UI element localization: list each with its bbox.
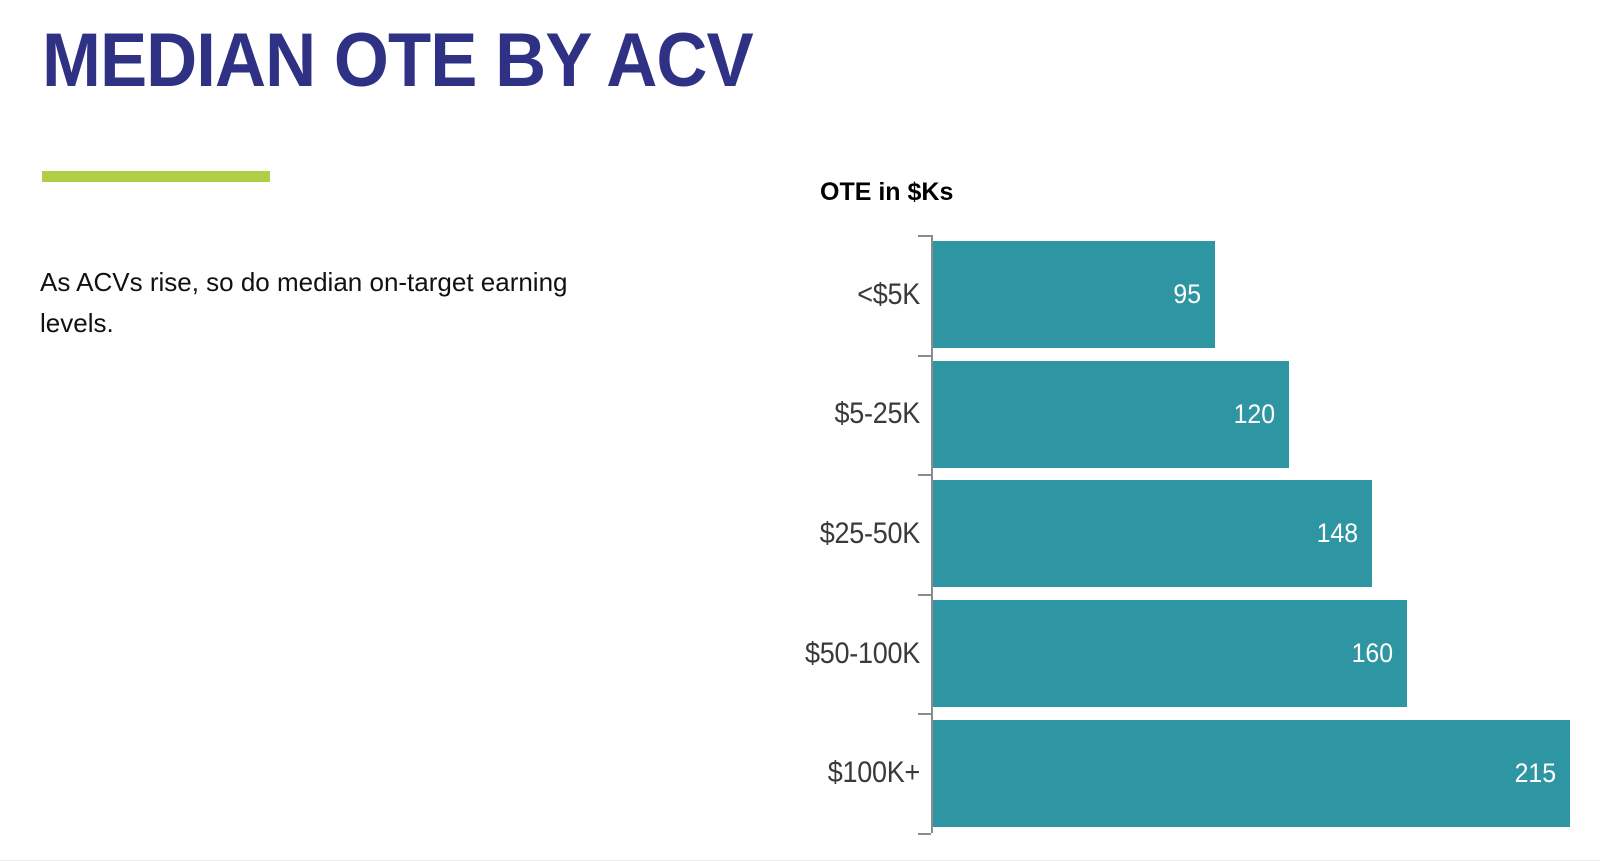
ote-bar-chart: OTE in $Ks <$5K95$5-25K120$25-50K148$50-… — [760, 160, 1600, 860]
bar[interactable]: 215 — [933, 720, 1570, 827]
bar-row: $5-25K120 — [760, 355, 1600, 475]
bar-row: $50-100K160 — [760, 594, 1600, 714]
bar-row: <$5K95 — [760, 235, 1600, 355]
bar-track: 120 — [933, 355, 1600, 475]
category-label: $50-100K — [776, 637, 920, 671]
axis-tick — [918, 355, 931, 357]
category-label: <$5K — [776, 278, 920, 312]
bar-track: 160 — [933, 594, 1600, 714]
category-label: $5-25K — [776, 397, 920, 431]
accent-divider — [42, 171, 270, 182]
bar-row: $100K+215 — [760, 713, 1600, 833]
page-title: MEDIAN OTE BY ACV — [42, 18, 693, 104]
bar-track: 215 — [933, 713, 1600, 833]
bar-value-label: 160 — [1352, 638, 1393, 669]
category-label: $25-50K — [776, 517, 920, 551]
axis-tick — [918, 833, 931, 835]
axis-tick — [918, 474, 931, 476]
chart-title: OTE in $Ks — [820, 178, 953, 207]
bar[interactable]: 148 — [933, 480, 1372, 587]
bar-track: 148 — [933, 474, 1600, 594]
bar[interactable]: 160 — [933, 600, 1407, 707]
axis-tick — [918, 594, 931, 596]
category-label: $100K+ — [776, 756, 920, 790]
chart-plot-area: <$5K95$5-25K120$25-50K148$50-100K160$100… — [760, 235, 1600, 833]
bar-series: <$5K95$5-25K120$25-50K148$50-100K160$100… — [760, 235, 1600, 833]
bar[interactable]: 120 — [933, 361, 1289, 468]
axis-tick — [918, 235, 931, 237]
bar-value-label: 95 — [1173, 279, 1201, 310]
bar-track: 95 — [933, 235, 1600, 355]
bar-row: $25-50K148 — [760, 474, 1600, 594]
bar-value-label: 148 — [1316, 518, 1357, 549]
bar-value-label: 120 — [1233, 399, 1274, 430]
axis-tick — [918, 713, 931, 715]
bar-value-label: 215 — [1515, 758, 1556, 789]
intro-paragraph: As ACVs rise, so do median on-target ear… — [40, 262, 640, 344]
left-text-panel: MEDIAN OTE BY ACV — [42, 18, 742, 104]
slide-canvas: MEDIAN OTE BY ACV As ACVs rise, so do me… — [0, 0, 1600, 861]
bar[interactable]: 95 — [933, 241, 1215, 348]
